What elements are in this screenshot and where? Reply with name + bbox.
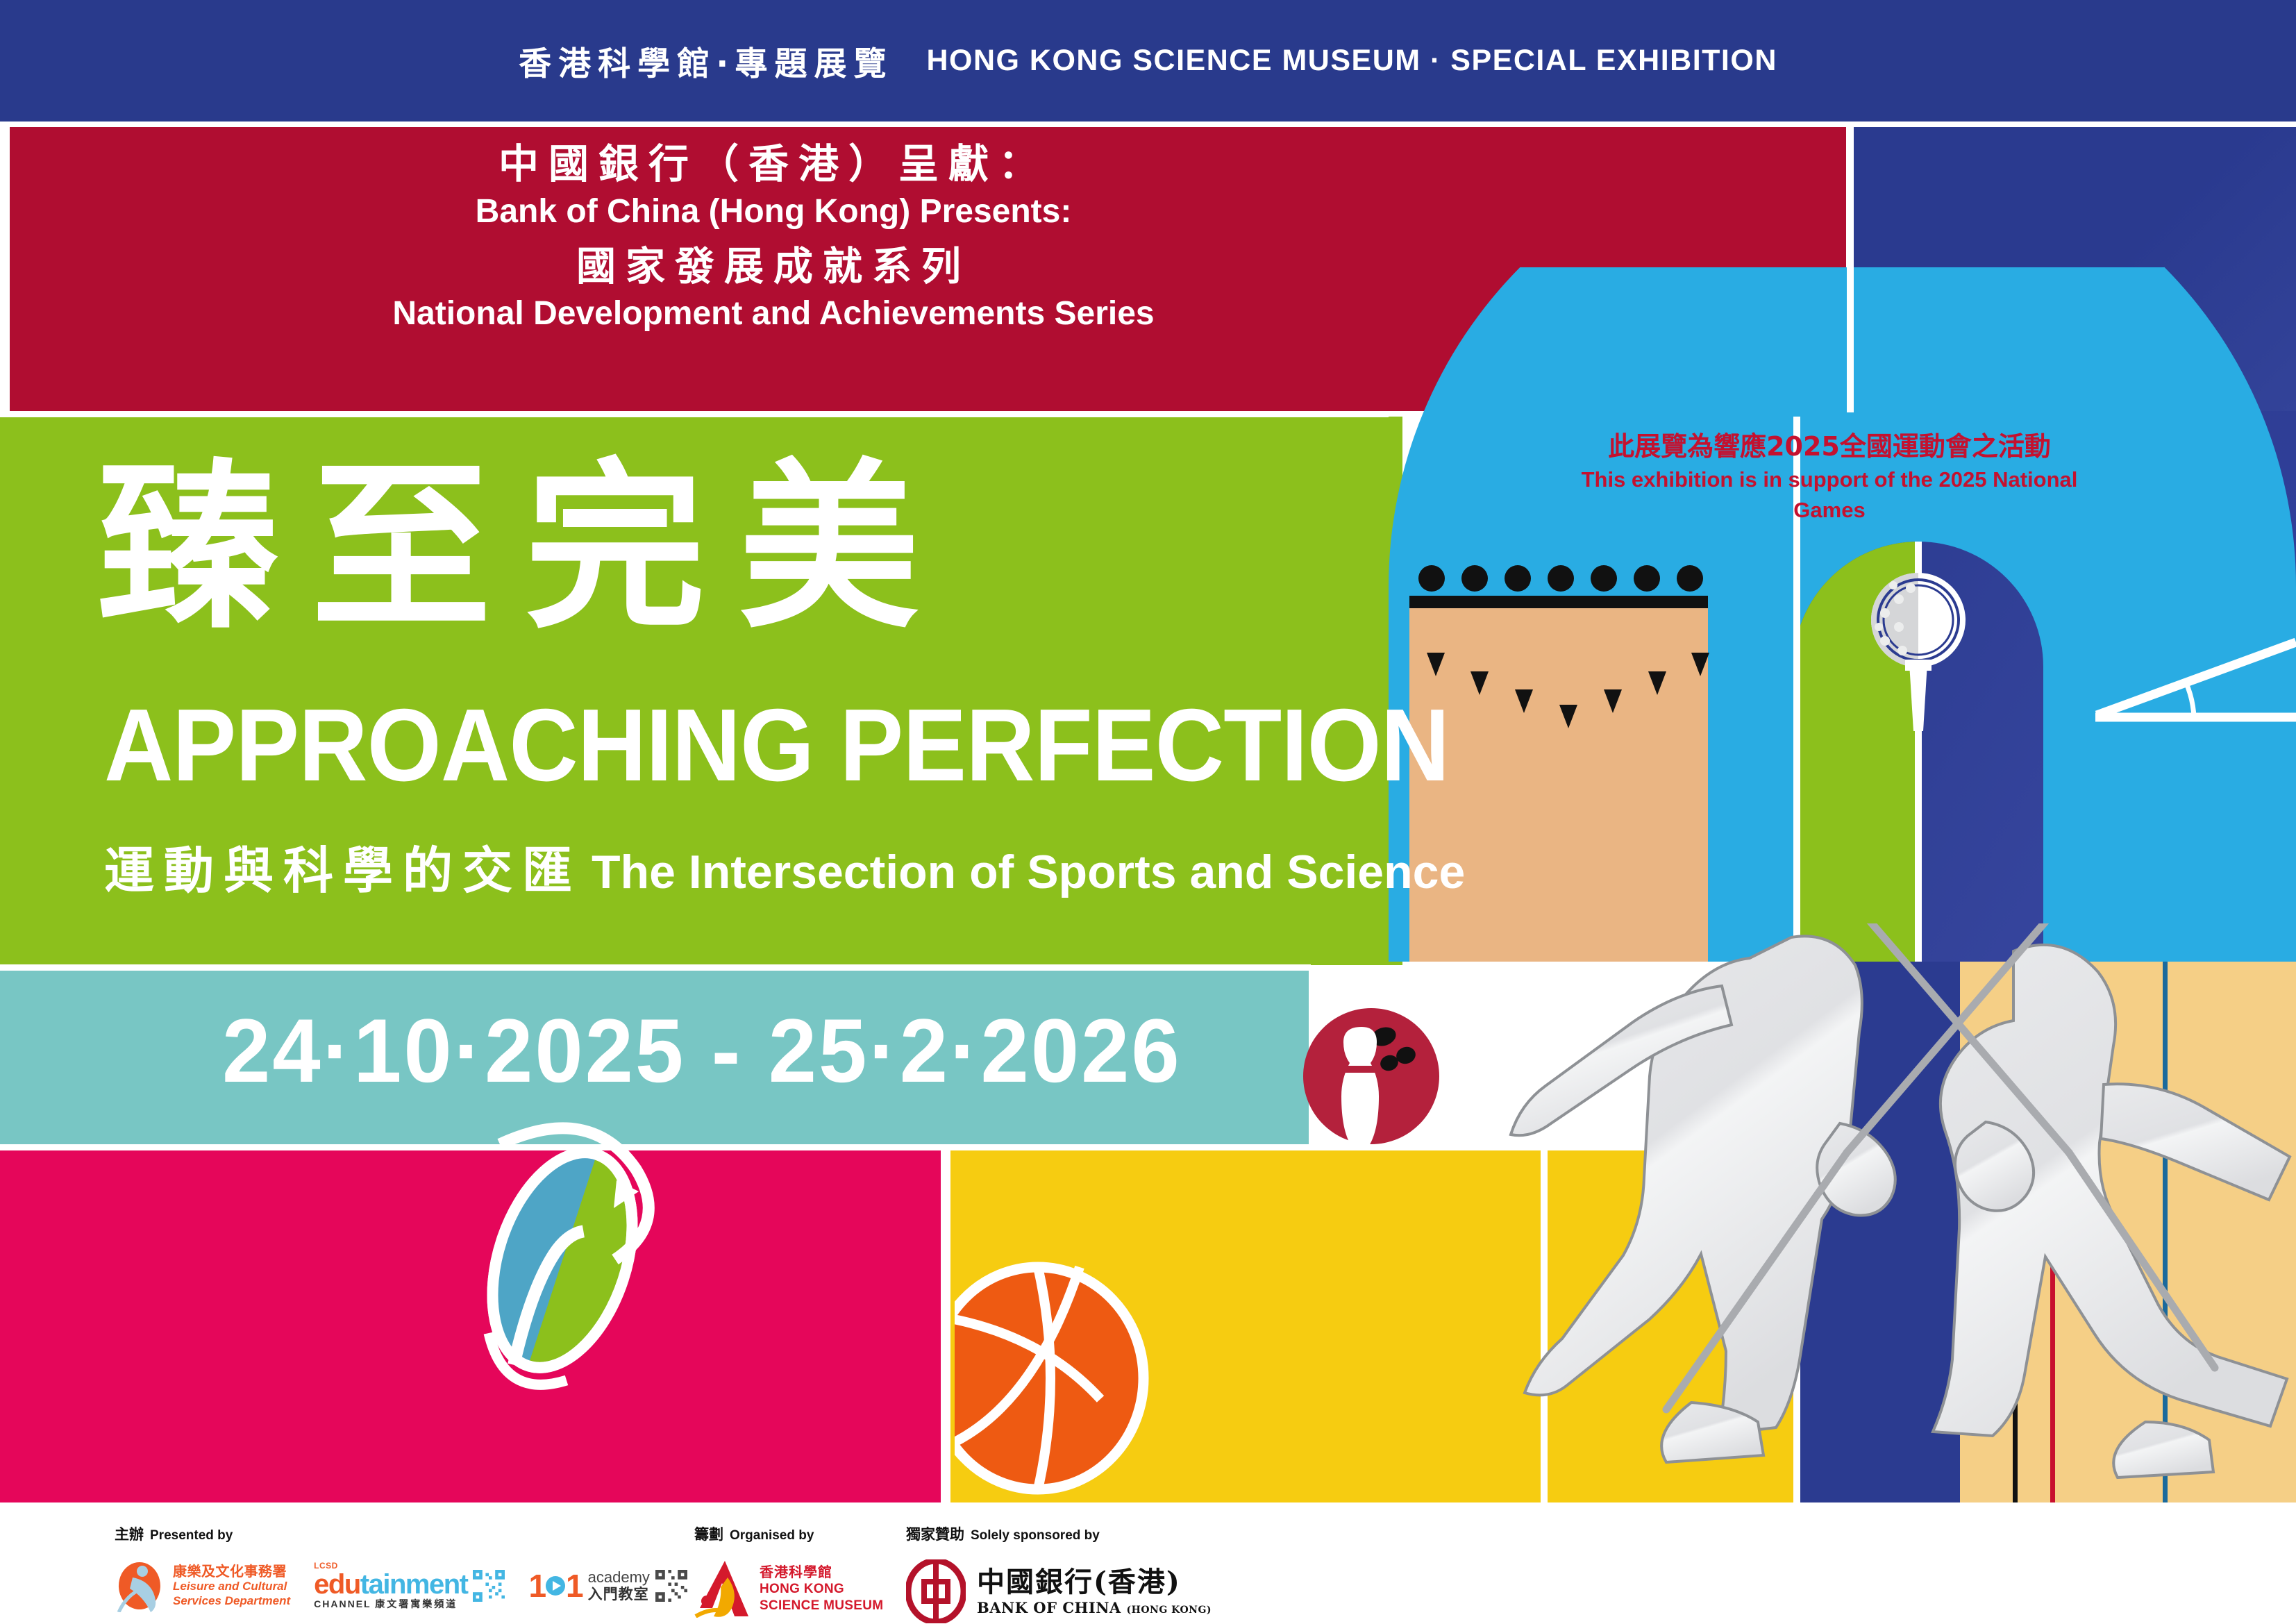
101-academy-logo[interactable]: 1 1 academy 入門教室 (528, 1567, 687, 1605)
edutainment-word-b: tainment (360, 1569, 468, 1600)
basketball-graphic (955, 1260, 1163, 1496)
edutainment-text: LCSD edutainment CHANNEL 康文署寓樂頻道 (314, 1562, 467, 1610)
exhibition-date-range: 24·10·2025 - 25·2·2026 (222, 998, 1182, 1103)
boc-name-en-main: BANK OF CHINA (977, 1599, 1121, 1616)
games-note-en: This exhibition is in support of the 202… (1555, 464, 2104, 525)
presenter-line-zh: 中國銀行（香港）呈獻： (10, 139, 1537, 190)
fencers-graphic (1361, 923, 2296, 1507)
101-academy-text: academy 入門教室 (588, 1569, 650, 1602)
bank-of-china-logo[interactable]: 中國銀行(香港) BANK OF CHINA (HONG KONG) (906, 1559, 1212, 1623)
main-title-zh: 臻至完美 (97, 458, 953, 639)
organised-by-label-zh: 籌劃 (694, 1523, 723, 1544)
table-tennis-swirl-graphic (444, 1111, 680, 1409)
lcsd-name-zh: 康樂及文化事務署 (173, 1563, 290, 1580)
play-circle-icon (545, 1575, 566, 1596)
organised-by-label: 籌劃 Organised by (694, 1523, 883, 1544)
series-line-zh: 國家發展成就系列 (10, 241, 1537, 292)
lcsd-logo-mark (115, 1559, 166, 1612)
101-academy-logotype: 1 1 (528, 1567, 582, 1605)
hong-kong-science-museum-logo[interactable]: 香港科學館 HONG KONG SCIENCE MUSEUM (694, 1559, 883, 1618)
sports-illustration-arch (1389, 267, 2296, 962)
hksm-name-zh: 香港科學館 (760, 1564, 883, 1581)
series-line-en: National Development and Achievements Se… (10, 292, 1537, 335)
edutainment-word-a: edu (314, 1569, 360, 1600)
lcsd-name-en-2: Services Department (173, 1594, 290, 1609)
101-academy-zh: 入門教室 (588, 1587, 650, 1602)
presented-by-label-en: Presented by (150, 1528, 233, 1543)
sep-green-teal (0, 964, 1311, 971)
hksm-name-en-1: HONG KONG (760, 1581, 883, 1598)
header-title-zh: 香港科學館‧專題展覽 (519, 37, 893, 85)
sep-header (0, 122, 2296, 127)
lcsd-logo-text: 康樂及文化事務署 Leisure and Cultural Services D… (173, 1563, 290, 1609)
boc-logo-mark (906, 1559, 966, 1623)
presented-by-label-zh: 主辦 (115, 1523, 144, 1544)
main-title-en: APPROACHING PERFECTION (104, 694, 1449, 797)
footer-group-organised-by: 籌劃 Organised by 香港科學館 HONG KONG SCIENCE … (694, 1523, 883, 1618)
organised-by-label-en: Organised by (730, 1528, 814, 1543)
edutainment-sub-en: CHANNEL (314, 1598, 371, 1609)
presented-by-logos: 康樂及文化事務署 Leisure and Cultural Services D… (115, 1559, 687, 1612)
sponsored-by-logos: 中國銀行(香港) BANK OF CHINA (HONG KONG) (906, 1559, 1212, 1623)
edutainment-sub-zh: 康文署寓樂頻道 (375, 1599, 458, 1610)
subtitle-en: The Intersection of Sports and Science (592, 845, 1465, 899)
hksm-logo-mark (694, 1559, 751, 1618)
lcsd-logo[interactable]: 康樂及文化事務署 Leisure and Cultural Services D… (115, 1559, 290, 1612)
footer: 主辦 Presented by 康樂及文化事務署 Leisure and (0, 1507, 2296, 1624)
boc-name-zh: 中國銀行(香港) (977, 1566, 1212, 1599)
boc-logo-text: 中國銀行(香港) BANK OF CHINA (HONG KONG) (977, 1566, 1212, 1616)
fencer-left (1511, 936, 1895, 1462)
games-note-zh: 此展覽為響應2025全國運動會之活動 (1555, 429, 2104, 464)
lcsd-name-en-1: Leisure and Cultural (173, 1580, 290, 1594)
subtitle-zh: 運動與科學的交匯 (104, 830, 582, 903)
sponsored-by-label-en: Solely sponsored by (971, 1528, 1100, 1543)
presented-by-label: 主辦 Presented by (115, 1523, 687, 1544)
sep-red-green (0, 411, 1389, 417)
exhibition-poster: 香港科學館‧專題展覽 HONG KONG SCIENCE MUSEUM · SP… (0, 0, 2296, 1624)
header-title-en: HONG KONG SCIENCE MUSEUM · SPECIAL EXHIB… (926, 44, 1777, 78)
edutainment-subline: CHANNEL 康文署寓樂頻道 (314, 1599, 467, 1610)
sep-pink-yellow (941, 1150, 950, 1507)
presenter-text-block: 中國銀行（香港）呈獻： Bank of China (Hong Kong) Pr… (10, 139, 1537, 336)
footer-group-sponsored-by: 獨家贊助 Solely sponsored by 中國銀行(香港) BANK O… (906, 1523, 1212, 1623)
sponsored-by-label: 獨家贊助 Solely sponsored by (906, 1523, 1212, 1544)
subtitle-row: 運動與科學的交匯 The Intersection of Sports and … (104, 830, 1465, 903)
organised-by-logos: 香港科學館 HONG KONG SCIENCE MUSEUM (694, 1559, 883, 1618)
national-games-note: 此展覽為響應2025全國運動會之活動 This exhibition is in… (1555, 429, 2104, 525)
sponsored-by-label-zh: 獨家贊助 (906, 1523, 964, 1544)
hksm-logo-text: 香港科學館 HONG KONG SCIENCE MUSEUM (760, 1564, 883, 1614)
header-content: 香港科學館‧專題展覽 HONG KONG SCIENCE MUSEUM · SP… (0, 0, 2296, 122)
boc-name-en: BANK OF CHINA (HONG KONG) (977, 1599, 1212, 1616)
edutainment-qr-code-icon[interactable] (473, 1570, 505, 1602)
bowling-lane-foul-line (1409, 596, 1708, 608)
sep-red-navy (1847, 126, 1854, 412)
boc-name-en-suffix: (HONG KONG) (1127, 1605, 1212, 1616)
101-academy-qr-code-icon[interactable] (655, 1570, 687, 1602)
presenter-line-en: Bank of China (Hong Kong) Presents: (10, 190, 1537, 235)
bowling-lane-surface (1409, 606, 1708, 962)
edutainment-wordmark: edutainment (314, 1570, 467, 1599)
hksm-name-en-2: SCIENCE MUSEUM (760, 1598, 883, 1614)
footer-group-presented-by: 主辦 Presented by 康樂及文化事務署 Leisure and (115, 1523, 687, 1612)
101-academy-en: academy (588, 1569, 650, 1586)
edutainment-channel-logo[interactable]: LCSD edutainment CHANNEL 康文署寓樂頻道 (314, 1562, 505, 1610)
